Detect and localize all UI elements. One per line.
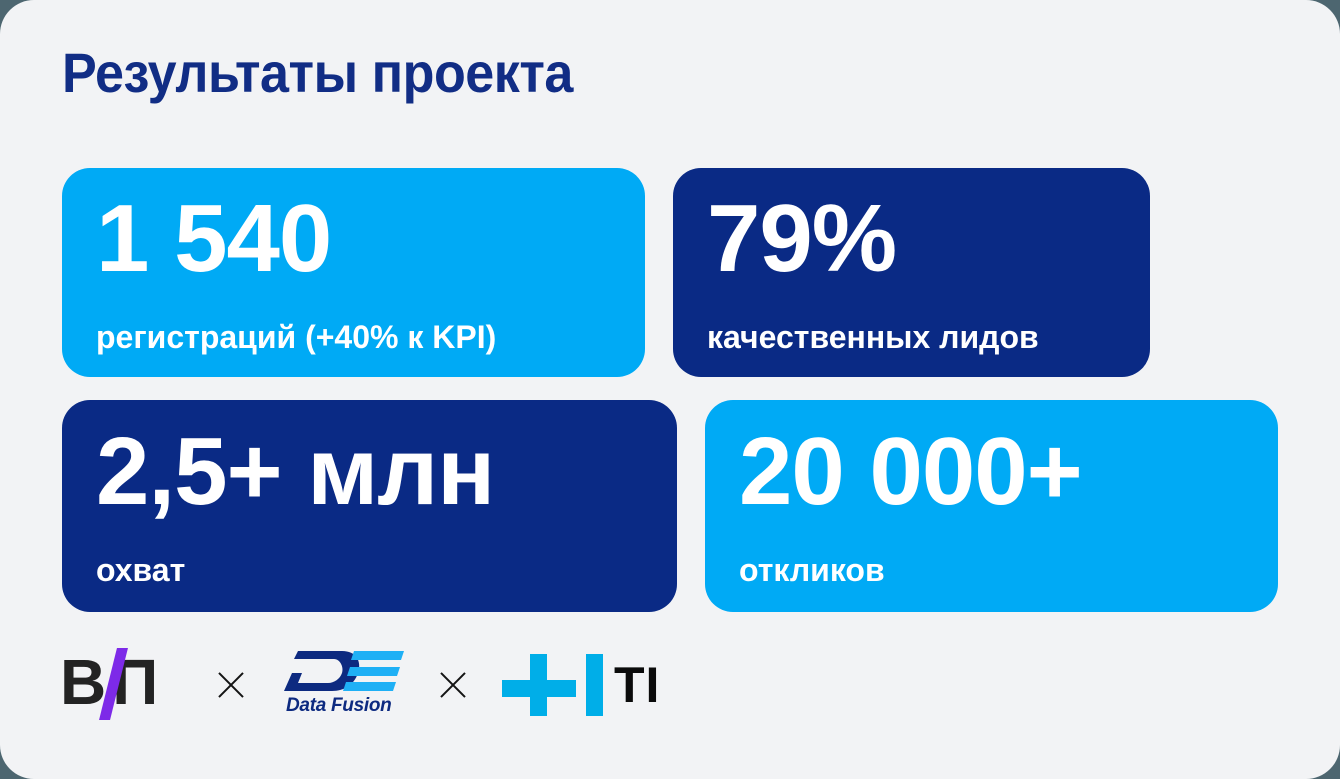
stat-card-registrations[interactable]: 1 540 регистраций (+40% к KPI) [62, 168, 645, 377]
t1-plus-icon-vertical [530, 654, 547, 716]
cross-separator-icon-2 [436, 668, 470, 702]
stat-value-quality-leads: 79% [707, 191, 1120, 287]
stat-label-quality-leads: качественных лидов [707, 321, 1120, 353]
poster-canvas: Результаты проекта 1 540 регистраций (+4… [0, 0, 1340, 779]
card-row-2: 2,5+ млн охват 20 000+ откликов [62, 400, 1278, 612]
stat-label-reach: охват [96, 554, 647, 586]
data-fusion-logo: Data Fusion [280, 649, 404, 721]
card-row-1: 1 540 регистраций (+40% к KPI) 79% качес… [62, 168, 1278, 377]
stat-value-registrations: 1 540 [96, 191, 615, 287]
stat-value-responses: 20 000+ [739, 424, 1248, 520]
stat-label-registrations: регистраций (+40% к KPI) [96, 321, 615, 353]
cross-separator-icon-1 [214, 668, 248, 702]
stat-card-reach[interactable]: 2,5+ млн охват [62, 400, 677, 612]
t1-bar-icon [586, 654, 603, 716]
partner-logo-strip: ВП Data Fusion TI [60, 645, 662, 725]
stat-card-responses[interactable]: 20 000+ откликов [705, 400, 1278, 612]
results-card-grid: 1 540 регистраций (+40% к KPI) 79% качес… [62, 168, 1278, 612]
vp-logo: ВП [60, 652, 182, 718]
t1-logo: TI [502, 654, 662, 716]
stat-label-responses: откликов [739, 554, 1248, 586]
stat-value-reach: 2,5+ млн [96, 424, 647, 520]
data-fusion-monogram-icon [280, 649, 404, 693]
data-fusion-wordmark: Data Fusion [286, 695, 391, 717]
t1-wordmark: TI [614, 660, 660, 710]
page-title: Результаты проекта [62, 44, 573, 103]
stat-card-quality-leads[interactable]: 79% качественных лидов [673, 168, 1150, 377]
